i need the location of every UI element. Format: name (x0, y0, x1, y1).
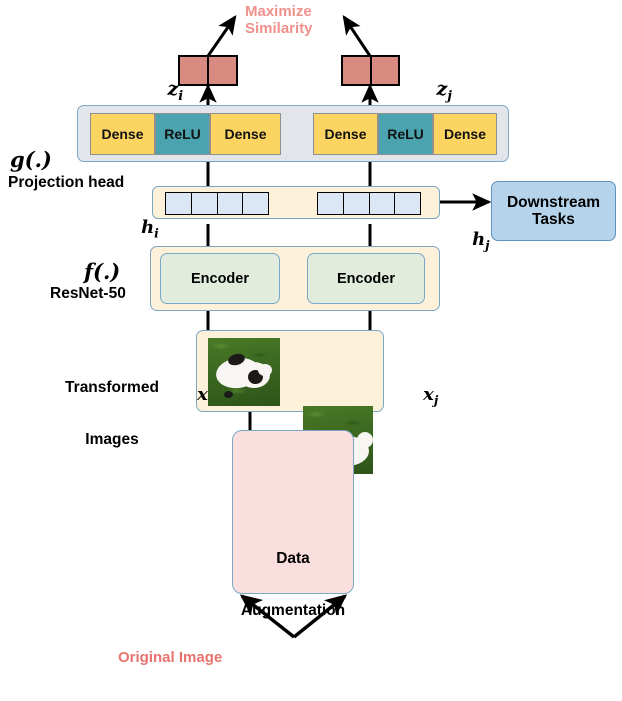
label-h-j-sub: j (485, 239, 489, 253)
h-j-cell (318, 193, 343, 214)
mlp-block-dense[interactable]: Dense (433, 113, 497, 155)
encoder-right[interactable]: Encoder (307, 253, 425, 304)
label-z-j-name: z (436, 78, 447, 100)
z-i-cell (180, 57, 207, 84)
mlp-block-dense[interactable]: Dense (90, 113, 155, 155)
label-x-j-sub: j (434, 394, 438, 408)
encoder-function-label: f(.) (84, 259, 120, 284)
dog-tail (357, 432, 373, 448)
label-h-j: hj (447, 208, 490, 274)
data-augmentation-line2: Augmentation (233, 602, 353, 619)
encoder-backbone-label: ResNet-50 (50, 285, 126, 302)
downstream-tasks-box[interactable]: Downstream Tasks (491, 181, 616, 241)
mlp-block-dense[interactable]: Dense (313, 113, 378, 155)
simclr-diagram: Maximize Similarity zi zj Dense ReLU Den… (0, 0, 622, 701)
transformed-images-label: Transformed Images (47, 344, 177, 483)
label-h-i-sub: i (154, 227, 159, 241)
label-z-j-sub: j (447, 89, 452, 104)
label-x-j-name: x (423, 384, 434, 405)
projection-head-branch-left: Dense ReLU Dense (90, 113, 281, 155)
label-x-i-name: x (197, 384, 208, 405)
h-i-cell (166, 193, 191, 214)
z-i-cell (207, 57, 236, 84)
z-i-vector (178, 55, 238, 86)
transformed-image-left (208, 338, 280, 406)
original-image-label: Original Image (118, 649, 222, 666)
maximize-similarity-label: Maximize Similarity (245, 3, 365, 38)
downstream-tasks-line2: Tasks (532, 211, 575, 228)
h-i-cell (191, 193, 217, 214)
similarity-arrow-left (208, 17, 235, 56)
label-h-j-name: h (472, 229, 485, 250)
z-j-cell (343, 57, 370, 84)
h-i-cell (217, 193, 243, 214)
mlp-block-relu[interactable]: ReLU (378, 113, 433, 155)
h-j-cell (343, 193, 369, 214)
data-augmentation-label: Data Augmentation (233, 515, 353, 654)
h-j-vector (317, 192, 421, 215)
z-j-cell (370, 57, 399, 84)
mlp-block-dense[interactable]: Dense (210, 113, 281, 155)
projection-head-label: Projection head (8, 174, 124, 191)
label-x-j: xj (398, 363, 438, 429)
h-i-vector (165, 192, 269, 215)
data-augmentation-line1: Data (233, 550, 353, 567)
label-x-i: xi (172, 363, 212, 429)
transformed-images-label-line2: Images (47, 431, 177, 448)
encoder-left[interactable]: Encoder (160, 253, 280, 304)
projection-head-function-label: g(.) (10, 147, 52, 172)
transformed-images-label-line1: Transformed (47, 379, 177, 396)
h-i-cell (242, 193, 268, 214)
encoder-right-label: Encoder (337, 271, 395, 287)
h-j-cell (369, 193, 395, 214)
encoder-left-label: Encoder (191, 271, 249, 287)
dog-body (258, 364, 272, 376)
dog-patch (224, 391, 233, 398)
label-h-i-name: h (141, 217, 154, 238)
h-j-cell (394, 193, 420, 214)
downstream-tasks-line1: Downstream (507, 194, 600, 211)
label-z-i-name: z (167, 78, 178, 100)
label-z-i-sub: i (178, 89, 183, 104)
data-augmentation-box[interactable]: Data Augmentation (232, 430, 354, 594)
projection-head-branch-right: Dense ReLU Dense (313, 113, 497, 155)
z-j-vector (341, 55, 400, 86)
mlp-block-relu[interactable]: ReLU (155, 113, 210, 155)
